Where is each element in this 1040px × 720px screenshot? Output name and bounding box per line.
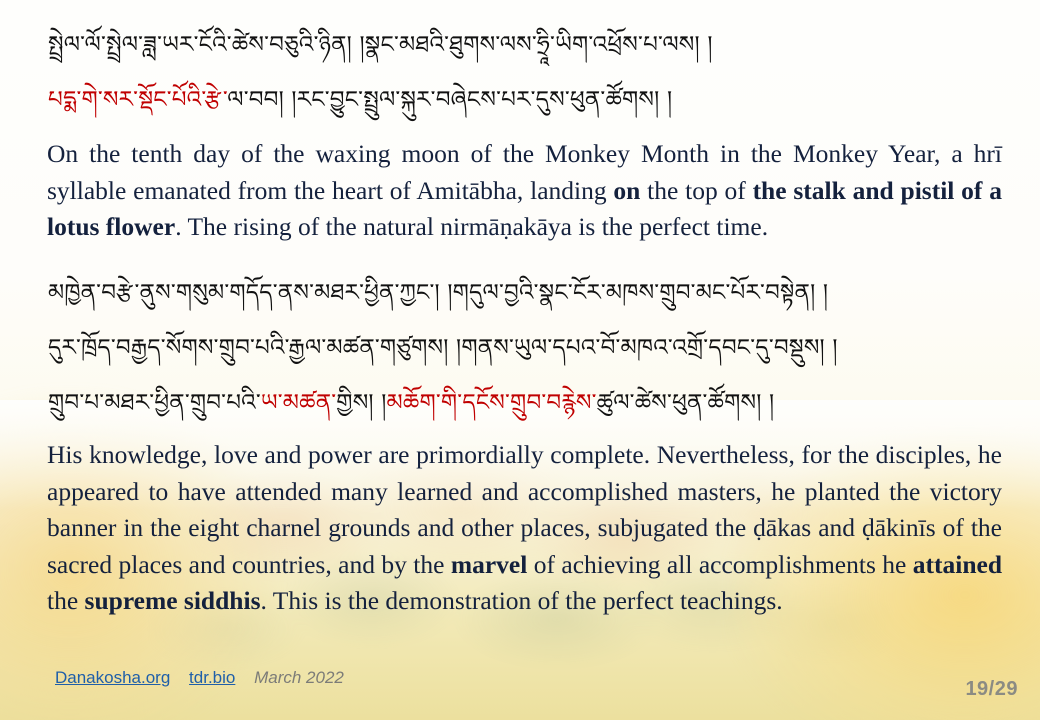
- tibetan-segment-red: པདྨ་གེ་སར་སྡོང་པོའི་རྩེ་: [48, 87, 227, 113]
- tibetan-segment-black: དུར་ཁྲོད་བརྒྱད་སོགས་གྲུབ་པའི་རྒྱལ་མཚན་གཙ…: [48, 335, 838, 361]
- tibetan-segment-black: སྤྲེལ་ལོ་སྤྲེལ་ཟླ་ཡར་ངོའི་ཚེས་བཅུའི་ཉིན།…: [48, 32, 713, 58]
- danakosha-link[interactable]: Danakosha.org: [55, 668, 170, 687]
- tibetan-verse-line-3: མཁྱེན་བརྩེ་ནུས་གསུམ་གདོད་ནས་མཐར་ཕྱིན་ཀྱང…: [48, 282, 1000, 305]
- page-number: 19/29: [965, 678, 1018, 701]
- tibetan-segment-black: མཁྱེན་བརྩེ་ནུས་གསུམ་གདོད་ནས་མཐར་ཕྱིན་ཀྱང…: [48, 280, 828, 306]
- emphasis-text: on: [613, 176, 640, 205]
- body-text: the: [47, 586, 85, 615]
- footer: Danakosha.org tdr.bio March 2022: [55, 668, 344, 688]
- tibetan-verse-line-4: དུར་ཁྲོད་བརྒྱད་སོགས་གྲུབ་པའི་རྒྱལ་མཚན་གཙ…: [48, 337, 1000, 360]
- tibetan-verse-line-5: གྲུབ་པ་མཐར་ཕྱིན་གྲུབ་པའི་ཡ་མཚན་གྱིས། །མཆ…: [48, 392, 1000, 415]
- tibetan-segment-black: ཚུལ་ཚེས་ཕུན་ཚོགས། །: [597, 390, 775, 416]
- slide-canvas: སྤྲེལ་ལོ་སྤྲེལ་ཟླ་ཡར་ངོའི་ཚེས་བཅུའི་ཉིན།…: [0, 0, 1040, 720]
- tibetan-segment-red: ཡ་མཚན་: [261, 390, 336, 416]
- tibetan-segment-black: གྱིས། །: [336, 390, 386, 416]
- body-text: the top of: [640, 176, 752, 205]
- footer-date: March 2022: [254, 668, 344, 687]
- emphasis-text: marvel: [451, 550, 527, 579]
- body-text: of achieving all accomplishments he: [527, 550, 912, 579]
- tibetan-verse-line-2: པདྨ་གེ་སར་སྡོང་པོའི་རྩེ་ལ་བབ། །རང་བྱུང་ས…: [48, 89, 1000, 112]
- body-text: . The rising of the natural nirmāṇakāya …: [175, 212, 768, 241]
- emphasis-text: supreme siddhis: [85, 586, 261, 615]
- tibetan-verse-line-1: སྤྲེལ་ལོ་སྤྲེལ་ཟླ་ཡར་ངོའི་ཚེས་བཅུའི་ཉིན།…: [48, 34, 1000, 57]
- slide-content: སྤྲེལ་ལོ་སྤྲེལ་ཟླ་ཡར་ངོའི་ཚེས་བཅུའི་ཉིན།…: [0, 0, 1040, 720]
- tdr-bio-link[interactable]: tdr.bio: [189, 668, 235, 687]
- tibetan-segment-black: གྲུབ་པ་མཐར་ཕྱིན་གྲུབ་པའི་: [48, 390, 261, 416]
- body-text: . This is the demonstration of the perfe…: [261, 586, 783, 615]
- english-paragraph-second: His knowledge, love and power are primor…: [47, 437, 1002, 620]
- emphasis-text: attained: [913, 550, 1002, 579]
- english-paragraph-first: On the tenth day of the waxing moon of t…: [47, 136, 1002, 246]
- tibetan-segment-red: མཆོག་གི་དངོས་གྲུབ་བརྙེས་: [387, 390, 597, 416]
- tibetan-segment-black: ལ་བབ། །རང་བྱུང་སྤྲུལ་སྐུར་བཞེངས་པར་དུས་ཕ…: [227, 87, 672, 113]
